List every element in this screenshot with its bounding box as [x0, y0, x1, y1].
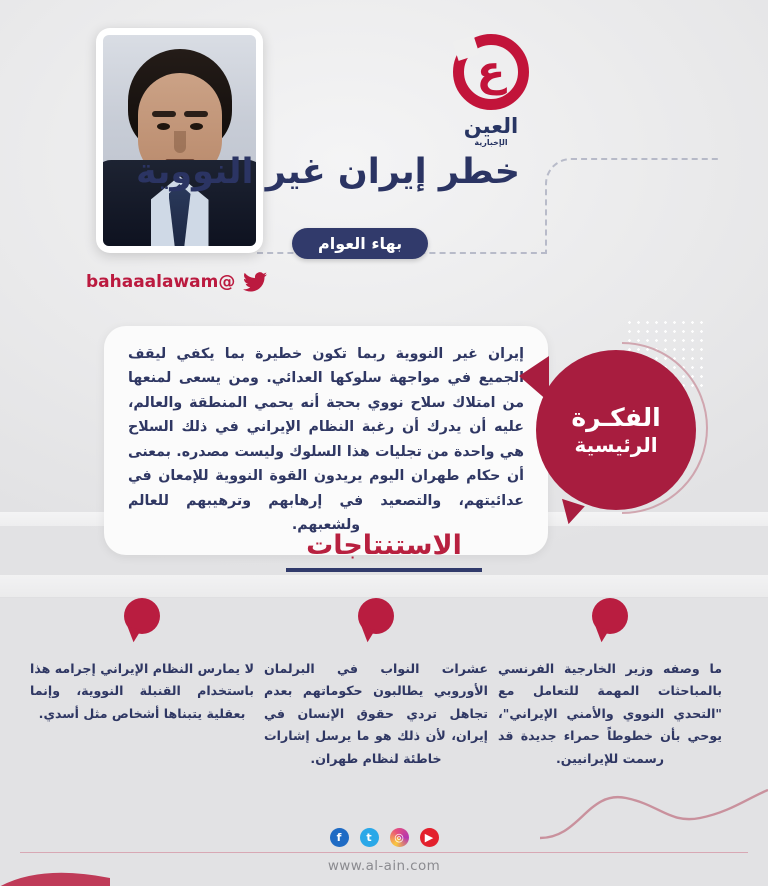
al-ain-logo[interactable]: ع العين الإخبارية — [432, 34, 550, 147]
author-photo-frame — [96, 28, 263, 253]
twitter-glyph: t — [366, 832, 371, 843]
youtube-icon[interactable]: ▶ — [420, 828, 439, 847]
portrait-eye-left — [157, 123, 170, 130]
conclusion-item-2: عشرات النواب في البرلمان الأوروبي يطالبو… — [264, 598, 488, 770]
page-title: خطر إيران غير النووية — [118, 152, 538, 192]
logo-letter: ع — [477, 50, 506, 92]
conclusion-item-1: لا يمارس النظام الإيراني إجرامه هذا باست… — [30, 598, 254, 770]
conclusions-columns: لا يمارس النظام الإيراني إجرامه هذا باست… — [30, 598, 738, 770]
dashed-frame-decoration — [545, 158, 720, 252]
twitter-icon[interactable]: t — [360, 828, 379, 847]
conclusion-text-2: عشرات النواب في البرلمان الأوروبي يطالبو… — [264, 658, 488, 770]
conclusions-heading-underline — [286, 568, 482, 572]
footer-divider — [20, 852, 748, 853]
instagram-glyph: ◎ — [394, 832, 404, 843]
main-idea-badge-line2: الرئيسية — [574, 433, 657, 458]
main-idea-text: إيران غير النووية ربما تكون خطيرة بما يك… — [128, 342, 524, 537]
conclusion-text-3: ما وصفه وزير الخارجية الفرنسي بالمباحثات… — [498, 658, 722, 770]
website-url[interactable]: www.al-ain.com — [0, 858, 768, 874]
portrait-brow-left — [152, 111, 176, 117]
speech-bubble-marker — [592, 598, 628, 634]
portrait-nose — [174, 131, 186, 153]
twitter-bird-icon — [243, 272, 267, 292]
corner-red-decoration — [0, 816, 110, 886]
twitter-handle[interactable]: @bahaaalawam — [86, 272, 267, 292]
author-portrait — [103, 35, 256, 246]
main-idea-badge-circle: الفكـرة الرئيسية — [536, 350, 696, 510]
youtube-glyph: ▶ — [425, 832, 433, 843]
main-idea-badge-line1: الفكـرة — [571, 402, 660, 433]
speech-bubble-marker — [358, 598, 394, 634]
section-band — [0, 575, 768, 597]
portrait-eye-right — [190, 123, 203, 130]
conclusion-item-3: ما وصفه وزير الخارجية الفرنسي بالمباحثات… — [498, 598, 722, 770]
author-badge: بهاء العوام — [292, 228, 428, 259]
main-idea-card: إيران غير النووية ربما تكون خطيرة بما يك… — [104, 326, 548, 555]
speech-bubble-marker — [124, 598, 160, 634]
main-idea-badge: الفكـرة الرئيسية — [536, 350, 696, 510]
portrait-brow-right — [184, 111, 208, 117]
conclusions-heading: الاستنتاجات — [306, 530, 462, 564]
facebook-icon[interactable]: f — [330, 828, 349, 847]
logo-subtitle: الإخبارية — [432, 138, 550, 147]
logo-ring-icon: ع — [453, 34, 529, 110]
twitter-handle-text: @bahaaalawam — [86, 272, 235, 292]
facebook-glyph: f — [337, 832, 342, 843]
infographic-page: ع العين الإخبارية خطر إيران غير النووية … — [0, 0, 768, 886]
instagram-icon[interactable]: ◎ — [390, 828, 409, 847]
conclusion-text-1: لا يمارس النظام الإيراني إجرامه هذا باست… — [30, 658, 254, 725]
logo-wordmark: العين — [432, 114, 550, 138]
social-links: ▶ ◎ t f — [0, 828, 768, 847]
conclusions-heading-block: الاستنتاجات — [0, 530, 768, 572]
